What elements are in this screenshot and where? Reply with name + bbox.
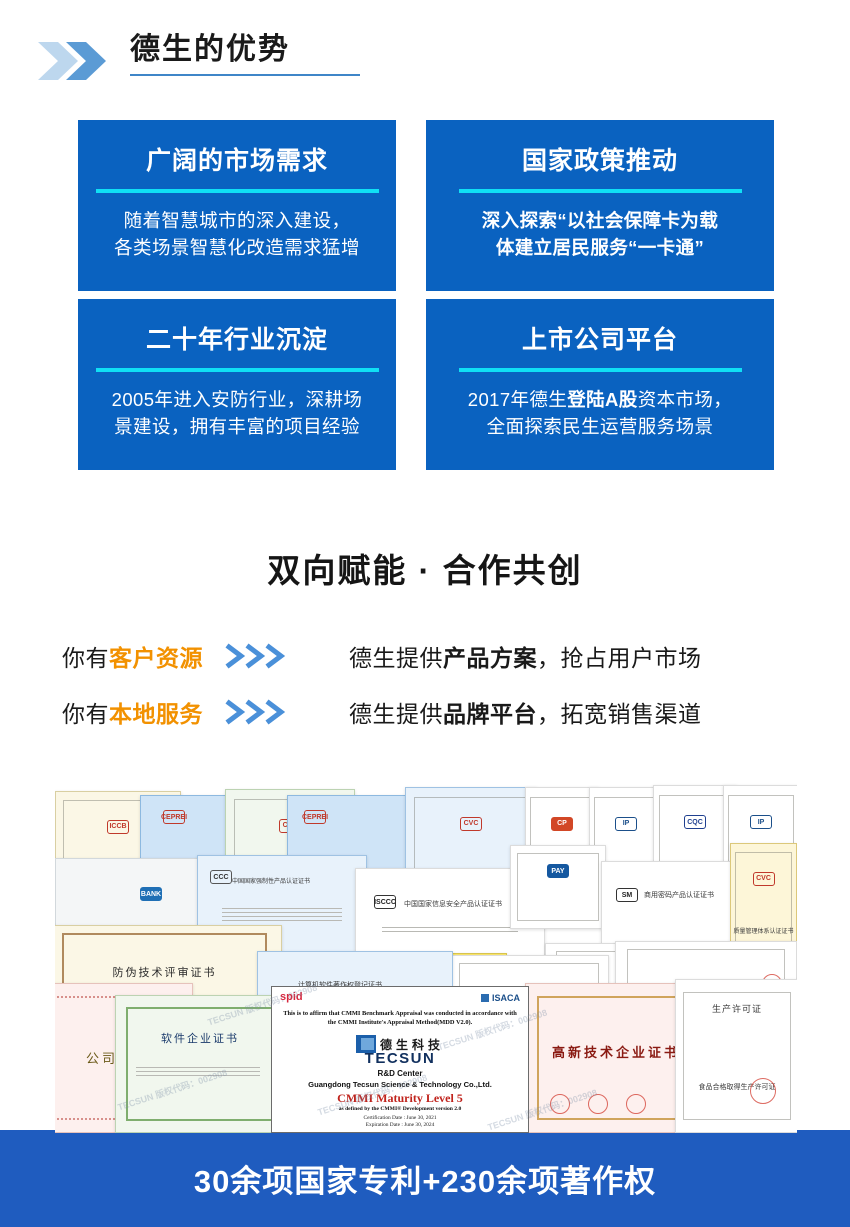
certificate-emblem: PAY <box>547 864 569 878</box>
advantage-card-market-demand: 广阔的市场需求 随着智慧城市的深入建设， 各类场景智慧化改造需求猛增 <box>78 120 396 291</box>
advantage-card-slot-4: 上市公司平台 2017年德生登陆A股资本市场， 全面探索民生运营服务场景 <box>426 299 774 475</box>
tecsun-logo-en: TECSUN <box>272 1050 528 1067</box>
cmmi-certification-date: Certification Date : June 30, 2021 <box>272 1115 528 1122</box>
advantage-body-strong: 登陆A股 <box>567 389 637 410</box>
empower-rows: 你有客户资源 德生提供产品方案，抢占用户市场 你有本地服务 德生提供品牌平台，拓… <box>0 628 850 740</box>
empower-right-suffix: ，拓宽销售渠道 <box>537 701 702 727</box>
empower-section-title: 双向赋能 · 合作共创 <box>0 544 850 592</box>
empower-right-prefix: 德生提供 <box>349 701 443 727</box>
header-underline <box>130 74 360 76</box>
advantage-card-body: 随着智慧城市的深入建设， 各类场景智慧化改造需求猛增 <box>114 207 360 261</box>
certificate-text-lines <box>222 908 343 924</box>
advantage-card-body: 2017年德生登陆A股资本市场， 全面探索民生运营服务场景 <box>468 386 732 440</box>
certificate-caption: 食品合格取得生产许可证 <box>676 1082 797 1092</box>
empower-row: 你有客户资源 德生提供产品方案，抢占用户市场 <box>0 628 850 684</box>
cmmi-company-name: Guangdong Tecsun Science & Technology Co… <box>272 1080 528 1089</box>
advantage-card-title: 二十年行业沉淀 <box>146 325 328 355</box>
empower-right-strong: 产品方案 <box>443 645 537 671</box>
certificate-emblem: CVC <box>753 872 775 886</box>
certificate-emblem: IP <box>615 817 637 831</box>
certificate-collage: ICCB 集成电路卡认证证书 CEPREI 职业健康安全管理体系认证证书 CVC… <box>55 783 797 1133</box>
footer-banner-text: 30余项国家专利+230余项著作权 <box>194 1156 656 1201</box>
empower-left-prefix: 你有 <box>62 701 109 727</box>
triple-chevron-icon <box>225 698 299 726</box>
cmmi-rnd-center: R&D Center <box>272 1069 528 1078</box>
empower-right-suffix: ，抢占用户市场 <box>537 645 702 671</box>
triple-chevron-icon <box>225 642 299 670</box>
certificate-caption: 生产许可证 <box>676 1002 797 1015</box>
certificate-emblem: CCC <box>210 870 232 884</box>
certificate-emblem: CEPREI <box>163 810 185 824</box>
advantage-card-grid: 广阔的市场需求 随着智慧城市的深入建设， 各类场景智慧化改造需求猛增 国家政策推… <box>78 120 774 475</box>
cmmi-defined-by: as defined by the CMMI® Development vers… <box>272 1106 528 1112</box>
section-header-text-wrap: 德生的优势 <box>130 32 360 76</box>
advantage-card-slot-3: 二十年行业沉淀 2005年进入安防行业，深耕场 景建设，拥有丰富的项目经验 <box>78 299 426 475</box>
certificate-caption: 软件企业证书 <box>116 1030 284 1046</box>
empower-left-prefix: 你有 <box>62 645 109 671</box>
certificate-thumb: 生产许可证 食品合格取得生产许可证 <box>675 979 797 1133</box>
certificate-text-lines <box>136 1067 260 1079</box>
certificate-emblem: CP <box>551 817 573 831</box>
certificate-caption: 防伪技术评审证书 <box>55 964 281 980</box>
footer-banner: 30余项国家专利+230余项著作权 <box>0 1130 850 1227</box>
advantage-card-divider <box>96 189 379 193</box>
isaca-logo: ISACA <box>481 993 520 1003</box>
empower-row: 你有本地服务 德生提供品牌平台，拓宽销售渠道 <box>0 684 850 740</box>
certificate-seal <box>626 1094 646 1114</box>
empower-right-strong: 品牌平台 <box>443 701 537 727</box>
certificate-emblem: IP <box>750 815 772 829</box>
empower-left-text: 你有客户资源 <box>62 639 203 673</box>
advantage-card-body: 2005年进入安防行业，深耕场 景建设，拥有丰富的项目经验 <box>112 386 363 440</box>
cmmi-dates: Certification Date : June 30, 2021 Expir… <box>272 1115 528 1129</box>
advantage-card-slot-2: 国家政策推动 深入探索“以社会保障卡为载 体建立居民服务“一卡通” <box>426 120 774 296</box>
advantage-card-body: 深入探索“以社会保障卡为载 体建立居民服务“一卡通” <box>482 207 718 261</box>
empower-right-prefix: 德生提供 <box>349 645 443 671</box>
certificate-frame <box>126 1007 274 1121</box>
isaca-label: ISACA <box>492 993 520 1003</box>
spid-logo: spid <box>280 991 303 1003</box>
certificate-emblem: CVC <box>460 817 482 831</box>
certificate-emblem: CEPREI <box>304 810 326 824</box>
certificate-seal <box>750 1078 776 1104</box>
certificate-emblem: SM <box>616 888 638 902</box>
empower-right-text: 德生提供品牌平台，拓宽销售渠道 <box>349 695 702 729</box>
certificate-emblem: ICCB <box>107 820 129 834</box>
advantage-card-divider <box>459 368 742 372</box>
certificate-emblem: BANK <box>140 887 162 901</box>
empower-left-highlight: 客户资源 <box>109 645 203 671</box>
double-chevron-icon <box>36 40 108 87</box>
advantage-card-title: 广阔的市场需求 <box>146 146 328 176</box>
advantage-card-slot-1: 广阔的市场需求 随着智慧城市的深入建设， 各类场景智慧化改造需求猛增 <box>78 120 426 296</box>
empower-left-highlight: 本地服务 <box>109 701 203 727</box>
empower-right-text: 德生提供产品方案，抢占用户市场 <box>349 639 702 673</box>
certificate-frame <box>517 853 600 922</box>
isaca-mark-icon <box>481 994 489 1002</box>
advantage-card-title: 上市公司平台 <box>522 325 678 355</box>
certificate-thumb: PAY <box>510 845 606 929</box>
advantage-card-divider <box>459 189 742 193</box>
certificate-text-lines <box>382 927 517 935</box>
advantage-card-listed-company: 上市公司平台 2017年德生登陆A股资本市场， 全面探索民生运营服务场景 <box>426 299 774 470</box>
certificate-emblem: ISCCC <box>374 895 396 909</box>
page-root: 德生的优势 广阔的市场需求 随着智慧城市的深入建设， 各类场景智慧化改造需求猛增… <box>0 0 850 1227</box>
section-header: 德生的优势 <box>0 32 850 100</box>
certificate-caption: 中国国家强制性产品认证证书 <box>232 876 366 885</box>
cmmi-expiration-date: Expiration Date : June 30, 2024 <box>272 1122 528 1129</box>
advantage-body-pre: 2017年德生 <box>468 389 567 410</box>
certificate-thumb: 软件企业证书 <box>115 995 285 1133</box>
advantage-card-twenty-years: 二十年行业沉淀 2005年进入安防行业，深耕场 景建设，拥有丰富的项目经验 <box>78 299 396 470</box>
page-title: 德生的优势 <box>130 32 360 68</box>
certificate-caption: 质量管理体系认证证书 <box>731 926 796 935</box>
certificate-seal <box>550 1094 570 1114</box>
certificate-emblem: CQC <box>684 815 706 829</box>
empower-left-text: 你有本地服务 <box>62 695 203 729</box>
certificate-thumb: CVC 质量管理体系认证证书 <box>730 843 797 951</box>
advantage-card-national-policy: 国家政策推动 深入探索“以社会保障卡为载 体建立居民服务“一卡通” <box>426 120 774 291</box>
cmmi-affirm-text: This is to affirm that CMMI Benchmark Ap… <box>282 1009 518 1027</box>
advantage-card-title: 国家政策推动 <box>522 146 678 176</box>
certificate-seal <box>588 1094 608 1114</box>
advantage-card-divider <box>96 368 379 372</box>
cmmi-maturity-level: CMMI Maturity Level 5 <box>272 1091 528 1106</box>
cmmi-certificate: spid ISACA This is to affirm that CMMI B… <box>271 986 529 1133</box>
